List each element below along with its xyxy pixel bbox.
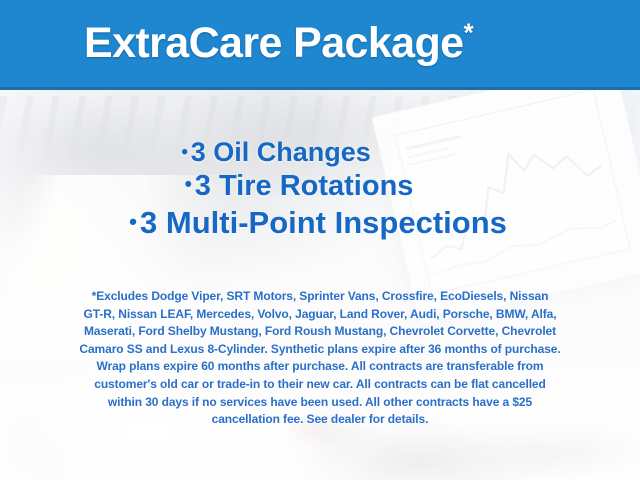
bullet-dot-icon: • — [185, 173, 192, 196]
bullet-dot-icon: • — [181, 141, 188, 163]
fineprint-line: within 30 days if no services have been … — [26, 394, 614, 412]
benefits-list: •3 Oil Changes •3 Tire Rotations •3 Mult… — [0, 138, 640, 240]
fineprint-disclaimer: *Excludes Dodge Viper, SRT Motors, Sprin… — [26, 288, 614, 429]
fineprint-line: customer's old car or trade-in to their … — [26, 376, 614, 394]
header-band: ExtraCare Package* — [0, 0, 640, 90]
fineprint-line: cancellation fee. See dealer for details… — [26, 411, 614, 429]
fineprint-line: *Excludes Dodge Viper, SRT Motors, Sprin… — [26, 288, 614, 306]
benefit-item-label: 3 Tire Rotations — [195, 170, 414, 202]
fineprint-line: GT-R, Nissan LEAF, Mercedes, Volvo, Jagu… — [26, 306, 614, 324]
fineprint-line: Wrap plans expire 60 months after purcha… — [26, 358, 614, 376]
benefit-item-label: 3 Multi-Point Inspections — [140, 205, 507, 240]
page-title: ExtraCare Package* — [84, 22, 473, 65]
title-footnote-asterisk: * — [463, 18, 473, 48]
benefit-item-oil-changes: •3 Oil Changes — [0, 138, 640, 167]
extracare-package-banner: ExtraCare Package* •3 Oil Changes •3 Tir… — [0, 0, 640, 480]
bullet-dot-icon: • — [129, 209, 137, 234]
benefit-item-tire-rotations: •3 Tire Rotations — [0, 171, 640, 202]
fineprint-line: Camaro SS and Lexus 8-Cylinder. Syntheti… — [26, 341, 614, 359]
benefit-item-label: 3 Oil Changes — [191, 137, 371, 167]
benefit-item-multi-point-inspections: •3 Multi-Point Inspections — [0, 206, 640, 239]
fineprint-line: Maserati, Ford Shelby Mustang, Ford Rous… — [26, 323, 614, 341]
page-title-text: ExtraCare Package — [84, 19, 463, 67]
